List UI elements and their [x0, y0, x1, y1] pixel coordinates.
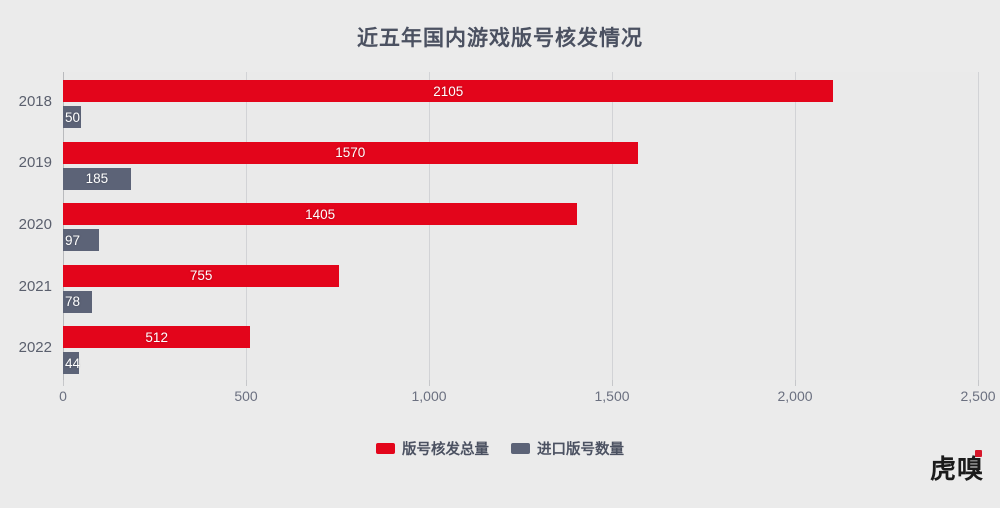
bar-value-label: 755 — [63, 268, 339, 283]
y-axis-label-2020: 2020 — [0, 216, 52, 233]
bar-total[interactable]: 512 — [63, 326, 250, 348]
bar-value-label: 1405 — [63, 207, 577, 222]
legend-swatch-icon — [376, 443, 395, 454]
y-axis-label-2019: 2019 — [0, 154, 52, 171]
x-axis-tick-label: 0 — [59, 388, 67, 404]
x-axis-tick-label: 1,000 — [411, 388, 446, 404]
bar-group: 210550 — [63, 72, 978, 134]
chart-root: 近五年国内游戏版号核发情况 21055015701851405977557851… — [0, 0, 1000, 508]
bar-imported[interactable]: 97 — [63, 229, 99, 251]
x-axis-tick-mark — [978, 380, 979, 386]
watermark-logo: 虎嗅 — [930, 449, 982, 486]
x-axis-tick-label: 500 — [234, 388, 257, 404]
x-axis-tick-mark — [246, 380, 247, 386]
bar-group: 51244 — [63, 318, 978, 380]
bar-imported[interactable]: 44 — [63, 352, 79, 374]
x-axis-tick-mark — [429, 380, 430, 386]
legend-label: 版号核发总量 — [402, 438, 489, 459]
bar-group: 75578 — [63, 257, 978, 319]
y-axis-label-2021: 2021 — [0, 278, 52, 295]
x-axis-tick-label: 1,500 — [594, 388, 629, 404]
bar-total[interactable]: 1405 — [63, 203, 577, 225]
x-axis-tick-mark — [795, 380, 796, 386]
bar-group: 140597 — [63, 195, 978, 257]
bar-value-label: 512 — [63, 330, 250, 345]
x-axis-tick-mark — [612, 380, 613, 386]
x-axis-tick-label: 2,500 — [960, 388, 995, 404]
legend-item-total[interactable]: 版号核发总量 — [376, 438, 489, 459]
bar-imported[interactable]: 50 — [63, 106, 81, 128]
x-axis-tick-label: 2,000 — [777, 388, 812, 404]
chart-legend: 版号核发总量进口版号数量 — [0, 438, 1000, 459]
legend-item-imported[interactable]: 进口版号数量 — [511, 438, 624, 459]
watermark-dot-icon — [975, 450, 982, 457]
bar-total[interactable]: 2105 — [63, 80, 833, 102]
y-axis-label-2022: 2022 — [0, 339, 52, 356]
bar-value-label: 185 — [63, 171, 131, 186]
bar-value-label: 2105 — [63, 84, 833, 99]
chart-title: 近五年国内游戏版号核发情况 — [0, 22, 1000, 52]
bar-value-label: 50 — [65, 110, 80, 125]
legend-swatch-icon — [511, 443, 530, 454]
bar-value-label: 97 — [65, 233, 80, 248]
bar-total[interactable]: 755 — [63, 265, 339, 287]
bar-imported[interactable]: 185 — [63, 168, 131, 190]
bar-value-label: 78 — [65, 294, 80, 309]
bar-group: 1570185 — [63, 134, 978, 196]
gridline — [978, 72, 979, 380]
bar-value-label: 1570 — [63, 145, 638, 160]
bar-imported[interactable]: 78 — [63, 291, 92, 313]
y-axis-label-2018: 2018 — [0, 93, 52, 110]
legend-label: 进口版号数量 — [537, 438, 624, 459]
x-axis-tick-mark — [63, 380, 64, 386]
plot-area: 21055015701851405977557851244 — [63, 72, 978, 380]
bar-total[interactable]: 1570 — [63, 142, 638, 164]
bar-value-label: 44 — [65, 356, 80, 371]
